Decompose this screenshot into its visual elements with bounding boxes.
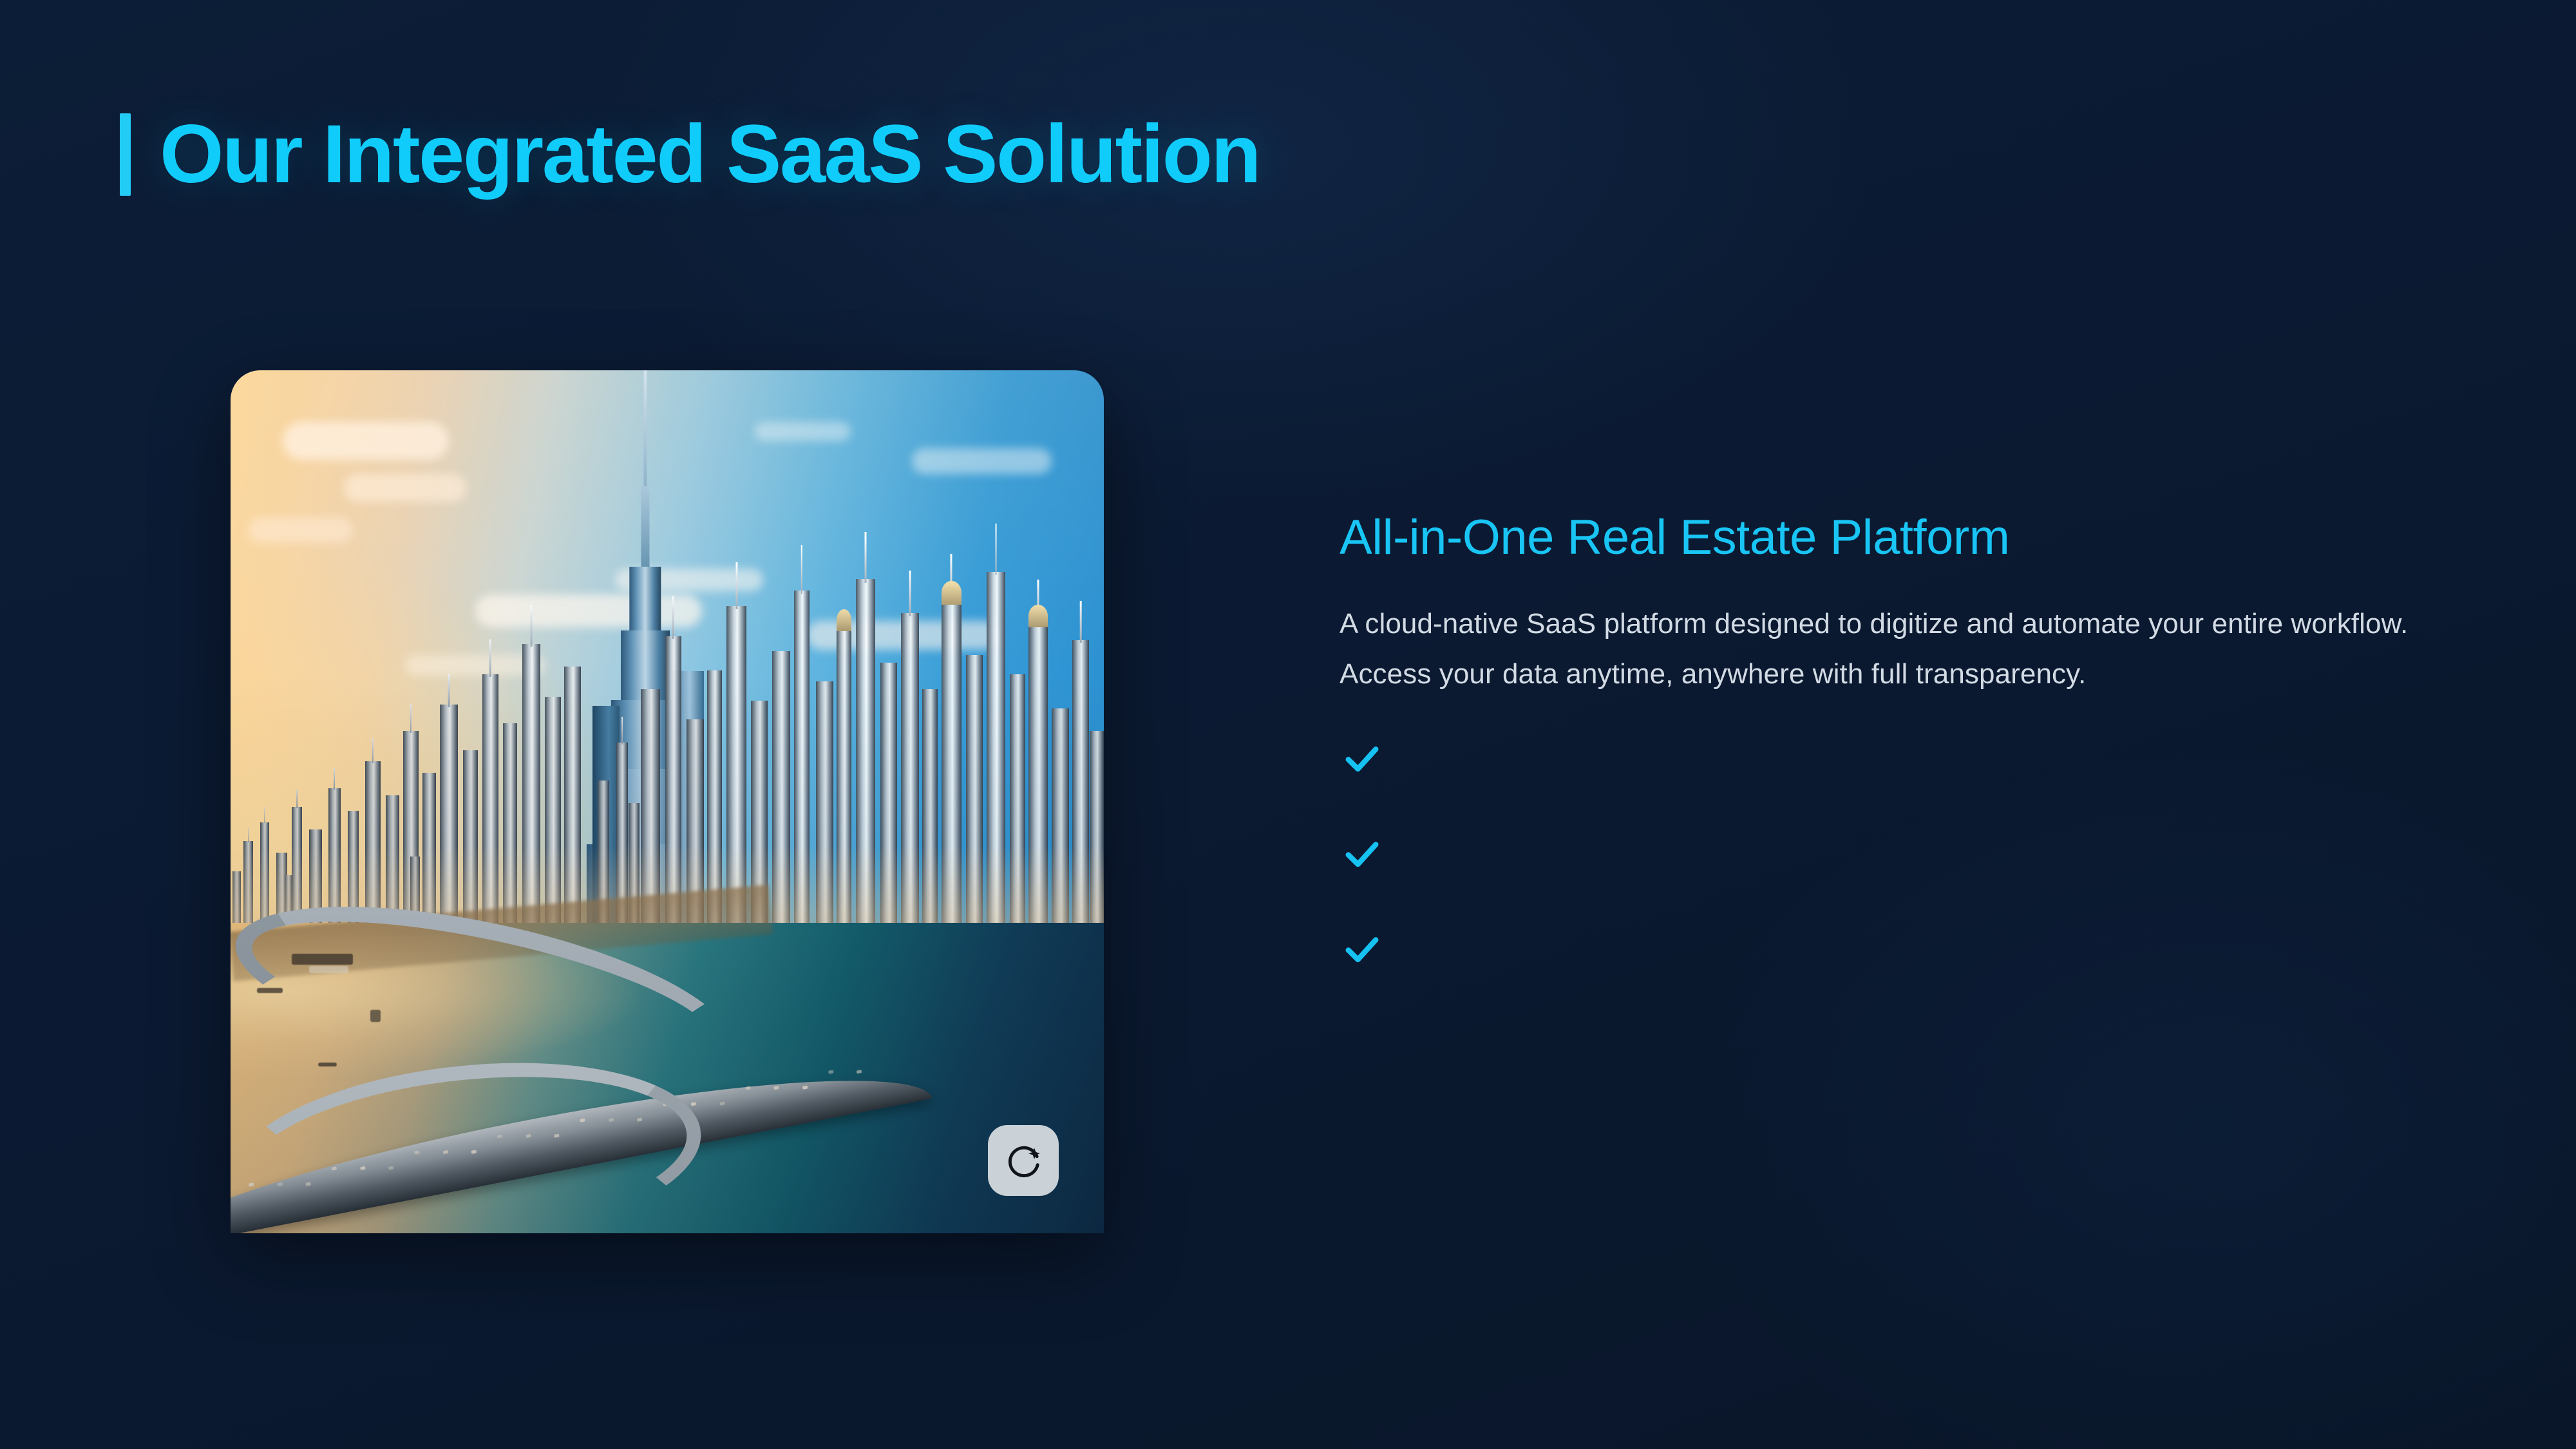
building (880, 663, 897, 940)
building (1010, 674, 1025, 940)
skyline-buildings (231, 560, 1104, 940)
building (856, 579, 875, 940)
check-icon-glyph (1341, 929, 1383, 970)
water-body (231, 923, 1104, 1233)
building (440, 705, 457, 940)
cloud (912, 448, 1052, 474)
list-item (1340, 711, 2460, 806)
regenerate-icon-glyph (1003, 1141, 1043, 1180)
content-paragraph: A cloud-native SaaS platform designed to… (1340, 599, 2447, 700)
building (1090, 731, 1104, 940)
building (772, 651, 790, 940)
media-card[interactable] (231, 370, 1104, 1233)
check-icon (1340, 831, 1385, 876)
vehicle (720, 1101, 726, 1105)
building (522, 644, 540, 940)
vehicle (828, 1070, 834, 1074)
building (794, 591, 810, 940)
building (1072, 640, 1089, 940)
cityscape-photo (231, 370, 1104, 1233)
cloud (283, 422, 449, 460)
vehicle (774, 1086, 780, 1090)
list-item (1340, 902, 2460, 997)
feature-list (1340, 711, 2460, 997)
regenerate-sparkle-icon[interactable] (988, 1125, 1059, 1196)
vehicle (857, 1070, 862, 1074)
list-item (1340, 806, 2460, 902)
check-icon-glyph (1341, 738, 1383, 779)
building (942, 598, 961, 940)
check-icon (1340, 736, 1385, 781)
check-icon-glyph (1341, 833, 1383, 875)
slide-title-block: Our Integrated SaaS Solution (120, 113, 1260, 196)
building (1028, 621, 1048, 940)
slide-canvas: Our Integrated SaaS Solution (0, 0, 2576, 1449)
cloud (344, 474, 466, 502)
building (816, 681, 833, 940)
vehicle (691, 1102, 697, 1106)
content-heading: All-in-One Real Estate Platform (1340, 509, 2460, 567)
building (987, 572, 1005, 940)
building (564, 667, 581, 940)
building (837, 625, 851, 940)
content-column: All-in-One Real Estate Platform A cloud-… (1340, 509, 2460, 997)
building (1052, 708, 1069, 940)
check-icon (1340, 927, 1385, 972)
cloud (248, 517, 353, 543)
building (966, 655, 983, 940)
title-accent-bar (120, 113, 131, 196)
cloud (755, 422, 851, 440)
building (482, 674, 499, 940)
page-title: Our Integrated SaaS Solution (160, 113, 1260, 196)
vehicle (802, 1085, 808, 1089)
building (901, 613, 918, 940)
boat (318, 1063, 337, 1067)
building (922, 689, 938, 940)
vehicle (746, 1086, 752, 1090)
